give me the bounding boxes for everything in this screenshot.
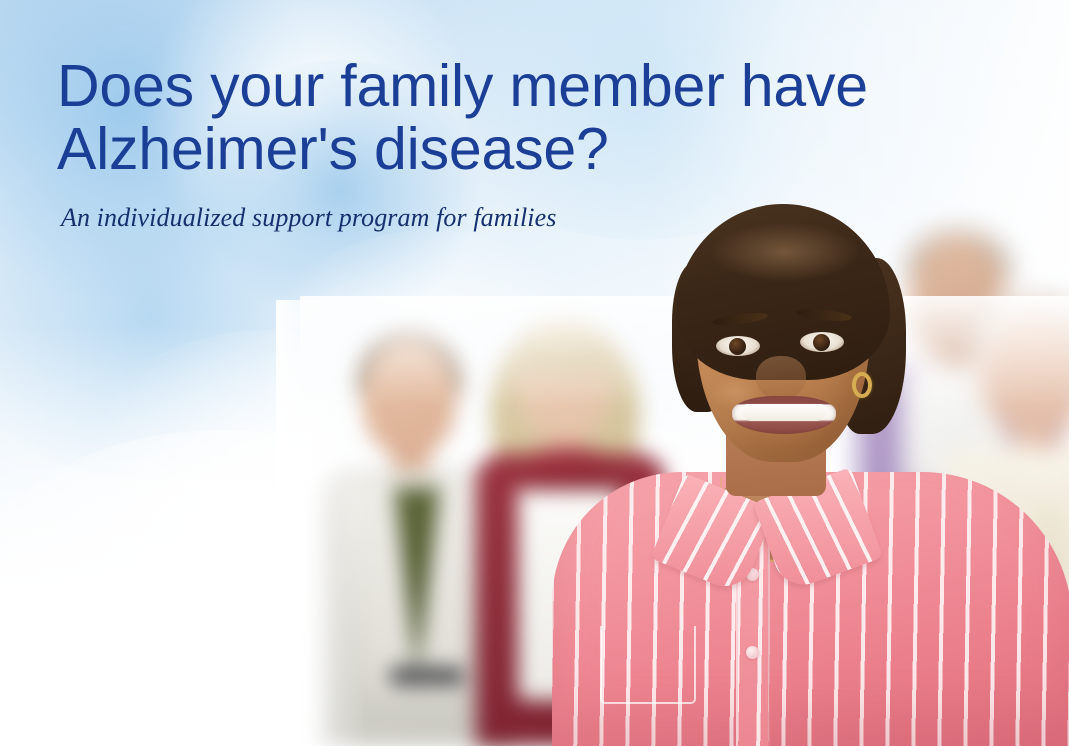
eye-right bbox=[800, 332, 844, 352]
shirt-chest-pocket bbox=[600, 626, 696, 704]
head bbox=[362, 338, 456, 456]
eye-left bbox=[716, 336, 760, 356]
gold-hoop-earring bbox=[852, 372, 872, 398]
nose bbox=[756, 356, 806, 400]
banner-subtitle: An individualized support program for fa… bbox=[61, 203, 997, 233]
photo-left-edge-fade bbox=[276, 300, 366, 746]
person-smiling-woman-foreground bbox=[560, 196, 1030, 746]
banner-headline: Does your family member have Alzheimer's… bbox=[57, 55, 997, 181]
shirt-button bbox=[746, 646, 759, 659]
teeth bbox=[742, 404, 826, 421]
alzheimers-support-banner: Does your family member have Alzheimer's… bbox=[0, 0, 1069, 746]
banner-text-block: Does your family member have Alzheimer's… bbox=[57, 55, 997, 233]
belt bbox=[390, 668, 464, 684]
